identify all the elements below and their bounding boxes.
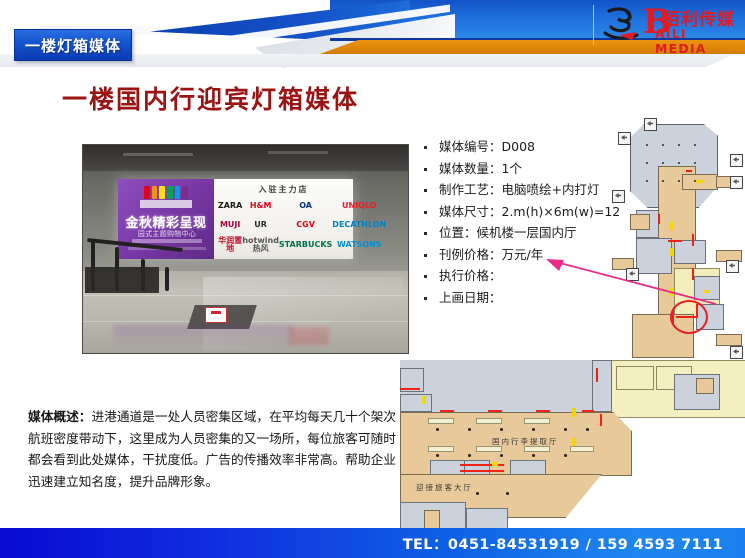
- spec-text: 上画日期：: [439, 289, 502, 307]
- media-description: 媒体概述：进港通道是一处人员密集区域，在平均每天几十个架次航班密度带动下，这里成…: [28, 406, 396, 492]
- spec-row: 制作工艺：电脑喷绘+内打灯: [424, 181, 624, 199]
- brand-logo-cell: ZARA: [218, 202, 242, 210]
- page-header: 一楼灯箱媒体 B 栢利传媒 AILI MEDIA: [0, 0, 745, 68]
- brand-logo-cell: 华润置地: [218, 237, 242, 253]
- spec-row: 媒体编号：D008: [424, 138, 624, 156]
- lightbox-brands-header: 入驻主力店: [214, 184, 353, 195]
- brand-logo-cell: DECATHLON: [332, 221, 386, 229]
- spec-text: 位置：候机楼一层国内厅: [439, 224, 577, 242]
- spec-row: 刊例价格：万元/年: [424, 246, 624, 264]
- spec-row: 媒体尺寸：2.m(h)×6m(w)=12: [424, 203, 624, 221]
- plan-label-arrival: 迎接旅客大厅: [416, 482, 473, 493]
- brand-logo-cell: MUJI: [220, 221, 240, 229]
- photo-bench: [85, 267, 159, 293]
- floor-plan-upper: [612, 118, 745, 363]
- location-marker-circle: [670, 300, 708, 334]
- bullet-icon: [424, 297, 427, 300]
- spec-text: 媒体尺寸：2.m(h)×6m(w)=12: [439, 203, 620, 221]
- logo-name-en: AILI MEDIA: [655, 26, 739, 56]
- plan-room: [636, 238, 672, 274]
- brand-logo-cell: WATSONS: [337, 241, 382, 249]
- brand-logo-cell: hotwind 热风: [242, 237, 279, 253]
- plan-room: [400, 394, 432, 412]
- page-footer: TEL：0451-84531919 / 159 4593 7111: [0, 528, 745, 558]
- plan-exit-icon: [612, 190, 625, 203]
- description-label: 媒体概述：: [28, 409, 91, 424]
- spec-text: 执行价格：: [439, 267, 502, 285]
- floor-plan-lower: 国内行李提取厅 迎接旅客大厅: [400, 360, 745, 528]
- footer-telephone: TEL：0451-84531919 / 159 4593 7111: [403, 533, 723, 554]
- plan-exit-icon: [730, 154, 743, 167]
- plan-room: [592, 360, 612, 412]
- logo-bar: [144, 186, 150, 199]
- brand-logo-cell: STARBUCKS: [279, 241, 332, 249]
- photo-floor-sign: [205, 307, 227, 323]
- logo-bar: [152, 186, 158, 199]
- page-title: 一楼国内行迎宾灯箱媒体: [62, 80, 359, 116]
- spec-row: 执行价格：: [424, 267, 624, 285]
- brand-logo-cell: UNIQLO: [342, 202, 377, 210]
- photo-reflection: [113, 325, 293, 351]
- brand-logo-cell: CGV: [296, 221, 315, 229]
- logo-bar: [167, 186, 173, 199]
- plan-corridor-seg: [630, 214, 650, 230]
- plan-exit-icon: [626, 268, 639, 281]
- plan-room: [674, 240, 706, 264]
- plan-bridge: [716, 334, 742, 346]
- photo-ceiling-light-2: [268, 151, 328, 154]
- plan-checkin-row: [510, 460, 546, 476]
- photo-floor-line: [83, 295, 408, 296]
- plan-exit-icon: [730, 346, 743, 359]
- bullet-icon: [424, 146, 427, 149]
- plan-exit-icon: [726, 260, 739, 273]
- plan-exit-icon: [730, 176, 743, 189]
- plan-room: [616, 366, 654, 390]
- bullet-icon: [424, 211, 427, 214]
- spec-text: 刊例价格：万元/年: [439, 246, 543, 264]
- bullet-icon: [424, 254, 427, 257]
- spec-row: 媒体数量：1个: [424, 160, 624, 178]
- spec-row: 上画日期：: [424, 289, 624, 307]
- slide-root: 一楼灯箱媒体 B 栢利传媒 AILI MEDIA 一楼国内行迎宾灯箱媒体: [0, 0, 745, 558]
- plan-exit-icon: [618, 132, 631, 145]
- plan-room: [694, 276, 720, 300]
- lightbox-brand-grid: ZARAH&MOAUNIQLOMUJIURCGVDECATHLON华润置地hot…: [218, 196, 349, 255]
- plan-stair: [424, 510, 440, 528]
- logo-bar: [159, 186, 165, 199]
- bullet-icon: [424, 168, 427, 171]
- plan-stair: [696, 378, 714, 394]
- spec-text: 制作工艺：电脑喷绘+内打灯: [439, 181, 599, 199]
- bullet-icon: [424, 189, 427, 192]
- brand-logo-cell: UR: [254, 221, 267, 229]
- plan-room: [466, 508, 508, 528]
- spec-text: 媒体数量：1个: [439, 160, 522, 178]
- plan-exit-icon: [644, 118, 657, 131]
- logo-divider: [593, 5, 594, 45]
- photo-ceiling: [83, 145, 408, 171]
- spec-row: 位置：候机楼一层国内厅: [424, 224, 624, 242]
- logo-bar: [175, 186, 181, 199]
- airport-lightbox-photo: 金秋精彩呈现 园式主题购物中心 入驻主力店 ZARAH&MOAUNIQLOMUJ…: [82, 144, 409, 354]
- lightbox-logo-bars: [144, 186, 188, 199]
- brand-logo-cell: OA: [299, 202, 312, 210]
- logo-bar: [182, 186, 188, 199]
- bullet-icon: [424, 232, 427, 235]
- brand-logo: B 栢利传媒 AILI MEDIA: [593, 3, 739, 51]
- spec-text: 媒体编号：D008: [439, 138, 535, 156]
- bullet-icon: [424, 275, 427, 278]
- tab-label: 一楼灯箱媒体: [25, 35, 121, 56]
- lightbox-right-panel: 入驻主力店 ZARAH&MOAUNIQLOMUJIURCGVDECATHLON华…: [214, 179, 353, 259]
- tab-floor-one-lightbox-media[interactable]: 一楼灯箱媒体: [14, 29, 132, 61]
- lightbox-subline: 园式主题购物中心: [128, 229, 206, 239]
- photo-reflection-2: [289, 327, 329, 345]
- media-spec-list: 媒体编号：D008媒体数量：1个制作工艺：电脑喷绘+内打灯媒体尺寸：2.m(h)…: [424, 138, 624, 310]
- photo-ceiling-light-1: [123, 153, 193, 156]
- brand-logo-cell: H&M: [250, 202, 272, 210]
- dragon-calligraphy-icon: [599, 5, 643, 47]
- lightbox-logo-plate: [140, 200, 192, 208]
